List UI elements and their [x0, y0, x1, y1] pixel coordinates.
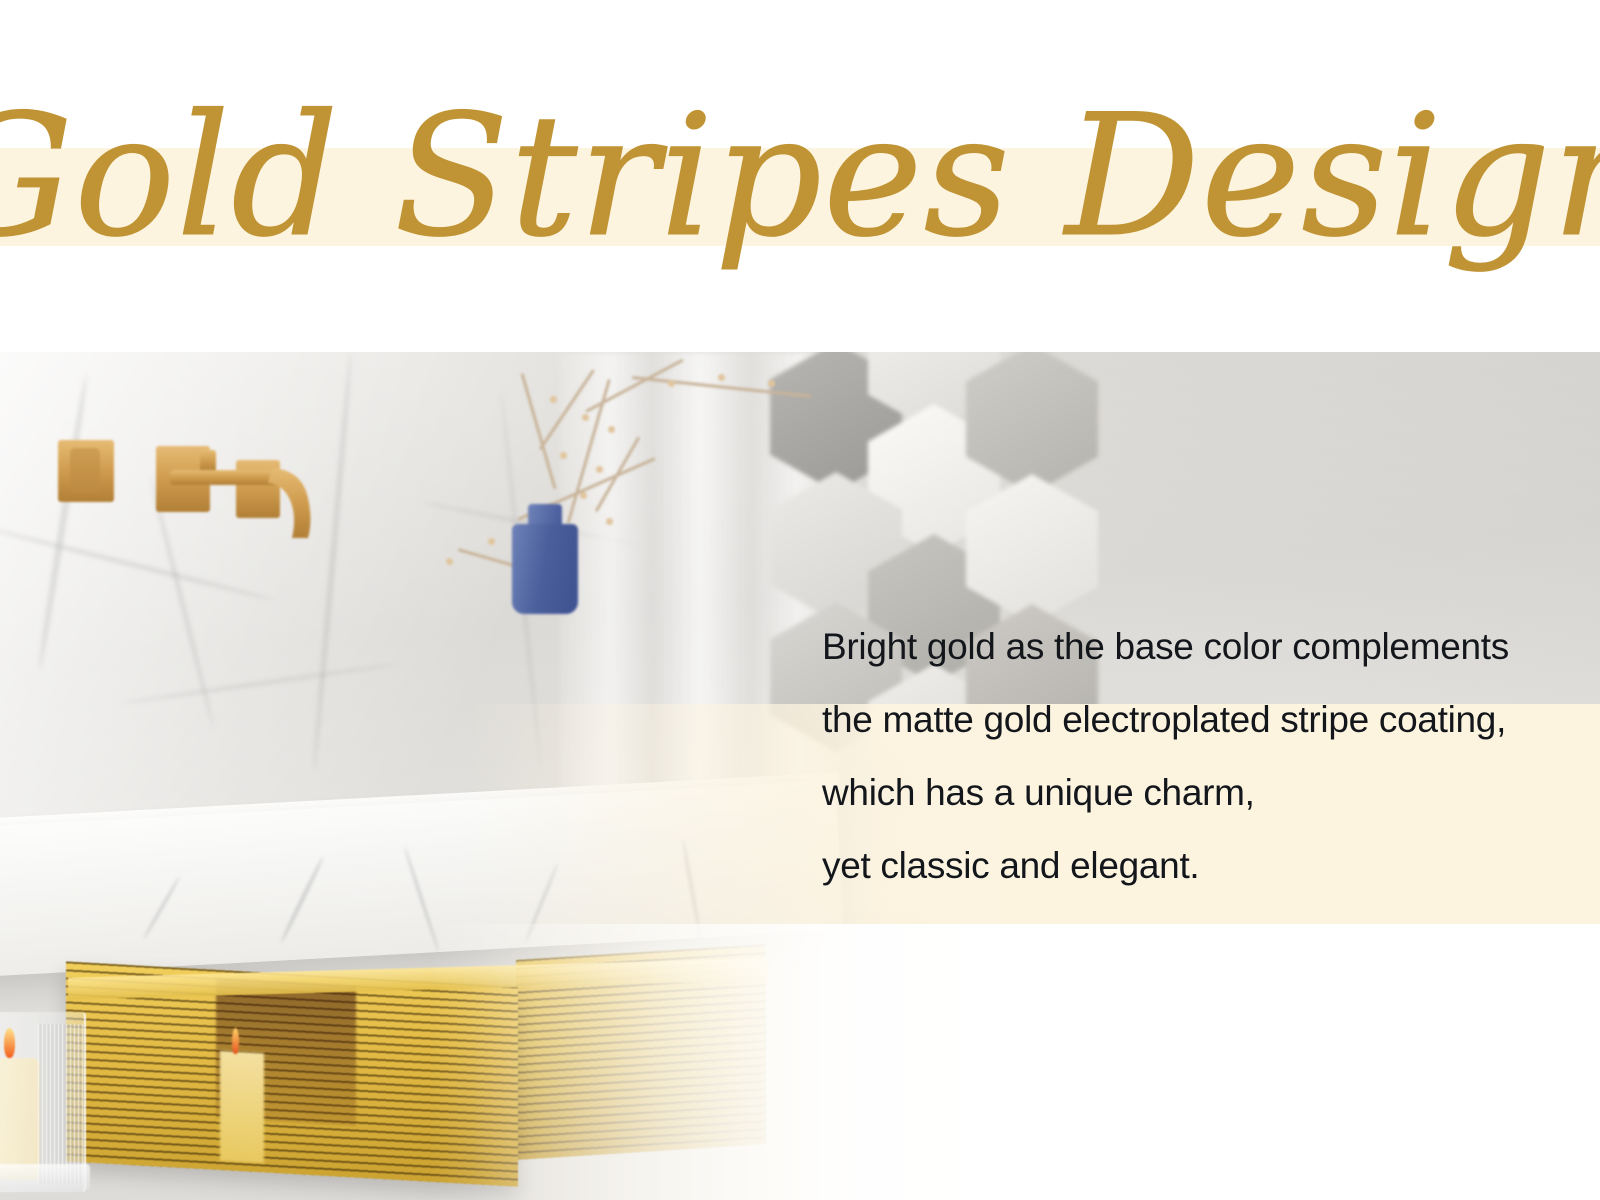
- sink-reflection-flame: [232, 1028, 239, 1054]
- sink-reflection-candle: [220, 1051, 264, 1163]
- description-block: Bright gold as the base color complement…: [822, 628, 1562, 885]
- blue-vase: [512, 524, 578, 614]
- pillar-candle: [0, 1058, 40, 1180]
- poster-page: Gold Stripes Design: [0, 0, 1600, 1200]
- page-title: Gold Stripes Design: [0, 56, 1600, 296]
- description-line-2: the matte gold electroplated stripe coat…: [822, 701, 1562, 740]
- description-line-4: yet classic and elegant.: [822, 847, 1562, 886]
- dried-branches: [400, 352, 820, 652]
- glass-base: [0, 1164, 90, 1190]
- gold-striped-sink: [66, 964, 766, 1179]
- wall-vein: [121, 663, 399, 705]
- glass-ribs: [38, 1024, 84, 1184]
- candle-flame-icon: [4, 1028, 15, 1058]
- wall-faucet-icon: [40, 412, 380, 562]
- description-line-3: which has a unique charm,: [822, 774, 1562, 813]
- header-section: Gold Stripes Design: [0, 0, 1600, 352]
- description-line-1: Bright gold as the base color complement…: [822, 628, 1562, 667]
